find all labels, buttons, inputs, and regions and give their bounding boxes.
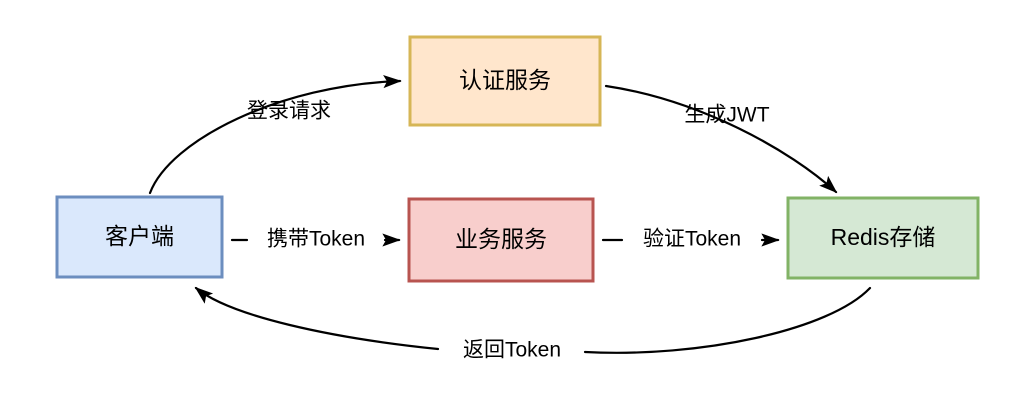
flowchart-svg: 登录请求 生成JWT 携带Token 验证Token 返回Token 客户端 认… — [0, 0, 1026, 412]
edge-label-generate-jwt: 生成JWT — [684, 104, 769, 127]
edge-label-return-token: 返回Token — [463, 339, 561, 362]
node-redis-store-label: Redis存储 — [831, 224, 936, 250]
edge-generate-jwt-path — [606, 86, 836, 192]
node-client-label: 客户端 — [105, 223, 174, 249]
node-auth-service-label: 认证服务 — [459, 67, 551, 93]
edge-login-request: 登录请求 — [150, 81, 400, 193]
edge-label-carry-token: 携带Token — [267, 228, 365, 251]
edge-generate-jwt: 生成JWT — [606, 86, 836, 192]
node-client[interactable]: 客户端 — [57, 197, 222, 277]
node-business-service[interactable]: 业务服务 — [409, 199, 593, 281]
edge-login-request-path — [150, 81, 400, 193]
edge-label-login-request: 登录请求 — [247, 100, 331, 123]
edge-verify-token: 验证Token — [603, 228, 778, 251]
edge-return-token: 返回Token — [196, 288, 870, 362]
node-business-service-label: 业务服务 — [455, 226, 547, 252]
edge-label-verify-token: 验证Token — [643, 228, 741, 251]
diagram-canvas: 登录请求 生成JWT 携带Token 验证Token 返回Token 客户端 认… — [0, 0, 1026, 412]
node-auth-service[interactable]: 认证服务 — [410, 37, 600, 125]
node-redis-store[interactable]: Redis存储 — [788, 198, 978, 278]
edge-carry-token: 携带Token — [232, 228, 399, 251]
